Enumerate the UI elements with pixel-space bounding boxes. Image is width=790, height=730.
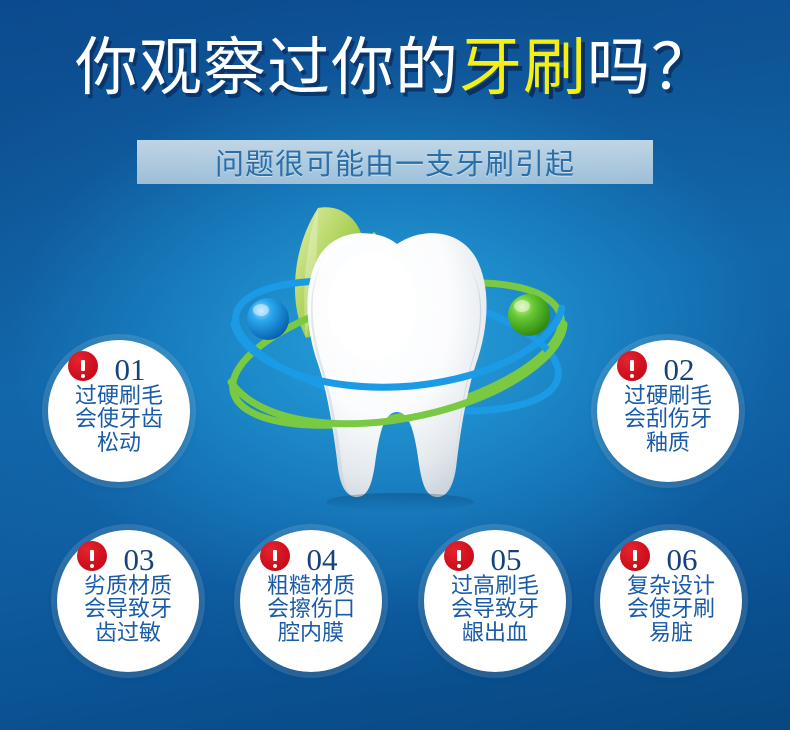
circle-line: 会使牙刷 <box>600 598 742 621</box>
page-title: 你观察过你的牙刷吗？ <box>0 36 790 100</box>
title-part2: 吗？ <box>587 31 715 104</box>
alert-icon <box>68 351 98 381</box>
circle-text: 劣质材质 会导致牙 齿过敏 <box>57 575 199 645</box>
tooth-shape <box>307 233 486 497</box>
poster-root: 你观察过你的牙刷吗？ 问题很可能由一支牙刷引起 <box>0 0 790 730</box>
circle-line: 龈出血 <box>424 622 566 645</box>
circle-header: 05 <box>424 544 566 578</box>
info-circle-04[interactable]: 04 粗糙材质 会擦伤口 腔内膜 <box>240 530 382 672</box>
title-accent: 牙刷 <box>459 31 587 104</box>
circle-number: 02 <box>664 352 695 387</box>
circle-line: 复杂设计 <box>600 575 742 598</box>
alert-icon <box>620 541 650 571</box>
circle-line: 会导致牙 <box>57 598 199 621</box>
circle-line: 会使牙齿 <box>48 408 190 431</box>
alert-icon <box>617 351 647 381</box>
circle-line: 过硬刷毛 <box>48 385 190 408</box>
circle-header: 03 <box>57 544 199 578</box>
circle-number: 05 <box>491 542 522 577</box>
info-circle-03[interactable]: 03 劣质材质 会导致牙 齿过敏 <box>57 530 199 672</box>
circle-line: 易脏 <box>600 622 742 645</box>
alert-icon <box>77 541 107 571</box>
circle-text: 过高刷毛 会导致牙 龈出血 <box>424 575 566 645</box>
title-part1: 你观察过你的 <box>75 31 459 104</box>
title-block: 你观察过你的牙刷吗？ <box>0 36 790 100</box>
subtitle-bar: 问题很可能由一支牙刷引起 <box>137 140 653 184</box>
circle-header: 04 <box>240 544 382 578</box>
tooth-with-orbit-illustration <box>222 196 572 526</box>
circle-line: 松动 <box>48 432 190 455</box>
subtitle-text: 问题很可能由一支牙刷引起 <box>215 141 575 183</box>
circle-line: 劣质材质 <box>57 575 199 598</box>
info-circle-02[interactable]: 02 过硬刷毛 会刮伤牙 釉质 <box>597 340 739 482</box>
circle-header: 02 <box>597 354 739 388</box>
alert-icon <box>260 541 290 571</box>
circle-number: 06 <box>667 542 698 577</box>
circle-number: 04 <box>307 542 338 577</box>
alert-icon <box>444 541 474 571</box>
circle-text: 过硬刷毛 会使牙齿 松动 <box>48 385 190 455</box>
circle-header: 01 <box>48 354 190 388</box>
circle-line: 会擦伤口 <box>240 598 382 621</box>
circle-line: 过硬刷毛 <box>597 385 739 408</box>
orbit-sphere-green <box>508 294 550 336</box>
circle-line: 会刮伤牙 <box>597 408 739 431</box>
info-circle-06[interactable]: 06 复杂设计 会使牙刷 易脏 <box>600 530 742 672</box>
circle-line: 釉质 <box>597 432 739 455</box>
circle-line: 粗糙材质 <box>240 575 382 598</box>
circle-header: 06 <box>600 544 742 578</box>
circle-line: 腔内膜 <box>240 622 382 645</box>
circle-text: 粗糙材质 会擦伤口 腔内膜 <box>240 575 382 645</box>
orbit-sphere-blue <box>247 298 289 340</box>
circle-number: 01 <box>115 352 146 387</box>
circle-line: 齿过敏 <box>57 622 199 645</box>
info-circle-05[interactable]: 05 过高刷毛 会导致牙 龈出血 <box>424 530 566 672</box>
circle-text: 过硬刷毛 会刮伤牙 釉质 <box>597 385 739 455</box>
circle-number: 03 <box>124 542 155 577</box>
circle-text: 复杂设计 会使牙刷 易脏 <box>600 575 742 645</box>
info-circle-01[interactable]: 01 过硬刷毛 会使牙齿 松动 <box>48 340 190 482</box>
circle-line: 过高刷毛 <box>424 575 566 598</box>
circle-line: 会导致牙 <box>424 598 566 621</box>
